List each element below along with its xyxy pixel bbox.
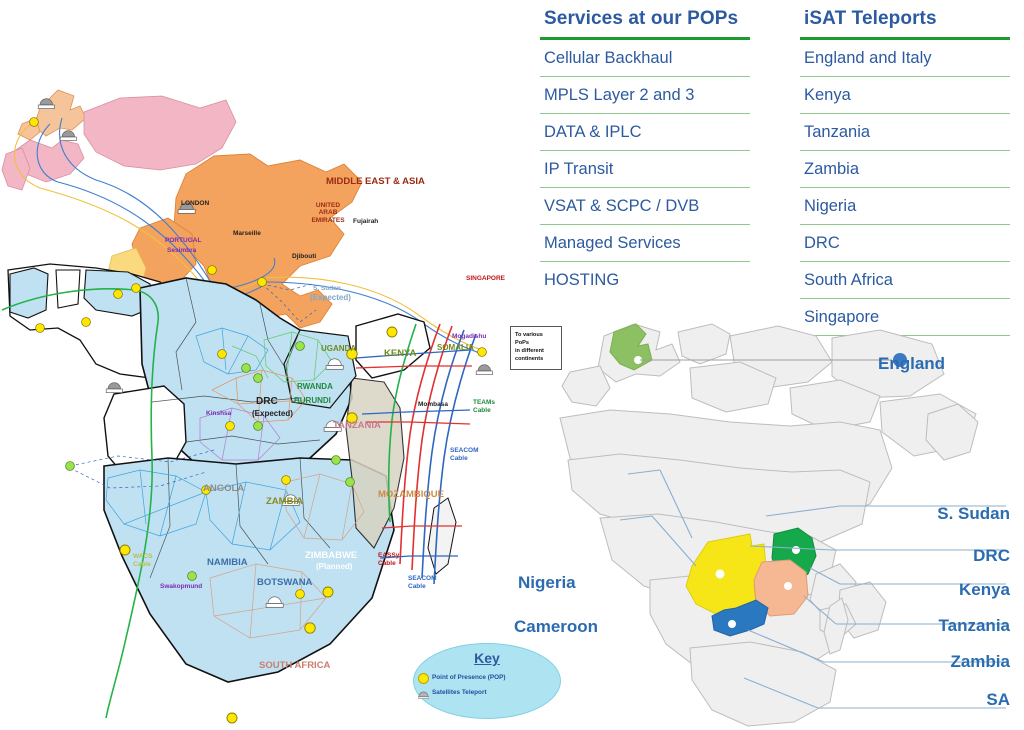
satellite-dish-icon [418, 688, 429, 701]
inset-label-zambia: Zambia [950, 652, 1010, 672]
map-label-rwanda: RWANDA [297, 382, 333, 391]
map-label-london: LONDON [181, 200, 209, 207]
list-item: DRC [800, 225, 1010, 262]
list-item: HOSTING [540, 262, 750, 298]
pop-marker [258, 278, 267, 287]
inset-label-sa: SA [986, 690, 1010, 710]
pop-marker [332, 456, 341, 465]
pop-marker [346, 478, 355, 487]
map-label-marseille: Marseille [233, 230, 261, 237]
pop-marker [114, 290, 123, 299]
key-label-pop: Point of Presence (POP) [432, 674, 506, 681]
list-item: DATA & IPLC [540, 114, 750, 151]
map-label-eassy-cable: EASSy Cable [378, 552, 406, 568]
map-label-drc: DRC [256, 396, 278, 407]
map-label-uganda: UGANDA [321, 344, 356, 353]
inset-label-england: England [878, 354, 945, 374]
pop-marker-capetown [227, 713, 237, 723]
map-label-mozambique: MOZAMBIQUE [378, 489, 444, 500]
map-label-teams-cable: TEAMs Cable [473, 399, 503, 415]
teleports-panel: iSAT Teleports England and Italy Kenya T… [800, 4, 1010, 316]
inset-label-kenya: Kenya [959, 580, 1010, 600]
teleport-pop-marker [66, 462, 75, 471]
map-label-s-sudan-expected: (Expected) [310, 293, 351, 302]
map-label-sesimbra: Sesimbra [167, 247, 196, 254]
list-item: England and Italy [800, 40, 1010, 77]
pop-marker-swakopmund [120, 545, 130, 555]
map-label-namibia: NAMIBIA [207, 557, 248, 568]
key-row-pop: Point of Presence (POP) [432, 674, 506, 681]
inset-label-nigeria: Nigeria [518, 573, 576, 593]
map-label-south-africa-1: SOUTH AFRICA [259, 660, 330, 671]
pop-marker [30, 118, 39, 127]
inset-pop-zambia [728, 620, 736, 628]
pop-marker [242, 364, 251, 373]
inset-label-cameroon: Cameroon [514, 617, 598, 637]
list-item: MPLS Layer 2 and 3 [540, 77, 750, 114]
map-label-kinshasa: Kinshsa [206, 410, 231, 417]
list-item: South Africa [800, 262, 1010, 299]
map-label-zambia: ZAMBIA [266, 496, 303, 507]
map-label-s-sudan: S. Sudan [313, 285, 341, 292]
list-item: Cellular Backhaul [540, 40, 750, 77]
pop-marker [282, 476, 291, 485]
map-key-legend: Key Point of Presence (POP) Satellites T… [413, 643, 561, 719]
pop-marker [82, 318, 91, 327]
map-label-middle-east-asia: MIDDLE EAST & ASIA [326, 176, 425, 187]
inset-label-drc: DRC [973, 546, 1010, 566]
map-label-botswana: BOTSWANA [257, 577, 312, 588]
map-label-burundi: BURUNDI [294, 396, 331, 405]
key-label-teleport: Satellites Teleport [432, 689, 487, 696]
pop-marker [323, 587, 333, 597]
map-label-drc-expected: (Expected) [252, 409, 293, 418]
pop-marker-mogadishu [387, 327, 397, 337]
inset-label-tanzania: Tanzania [939, 616, 1010, 636]
map-label-singapore: SINGAPORE [466, 275, 505, 282]
pop-marker [254, 374, 263, 383]
inset-pop-drc [716, 570, 725, 579]
teleports-panel-title: iSAT Teleports [800, 4, 1010, 37]
pop-marker [478, 348, 487, 357]
inset-pop-kenya [792, 546, 800, 554]
list-item: IP Transit [540, 151, 750, 188]
list-item: Kenya [800, 77, 1010, 114]
list-item: Tanzania [800, 114, 1010, 151]
map-label-mogadishu: Mogadishu [452, 333, 486, 340]
pop-marker [226, 422, 235, 431]
map-label-wacs-cable: WACS Cable [133, 553, 159, 569]
pop-marker [36, 324, 45, 333]
map-label-portugal: PORTUGAL [165, 237, 201, 244]
map-label-djibouti: Djibouti [292, 253, 316, 260]
pop-marker-durban [305, 623, 315, 633]
key-title: Key [414, 650, 560, 666]
pop-marker [254, 422, 263, 431]
map-label-zimbabwe-planned: (Planned) [316, 562, 352, 571]
yellow-dot-icon [418, 673, 429, 686]
teleports-list: England and Italy Kenya Tanzania Zambia … [800, 40, 1010, 336]
list-item: VSAT & SCPC / DVB [540, 188, 750, 225]
services-list: Cellular Backhaul MPLS Layer 2 and 3 DAT… [540, 40, 750, 298]
inset-label-s-sudan: S. Sudan [937, 504, 1010, 524]
map-label-swakopmund: Swakopmund [160, 583, 202, 590]
services-panel: Services at our POPs Cellular Backhaul M… [540, 4, 750, 316]
pop-marker [296, 590, 305, 599]
list-item: Managed Services [540, 225, 750, 262]
pop-marker [218, 350, 227, 359]
map-label-seacom-cable: SEACOM Cable [450, 447, 482, 463]
key-row-teleport: Satellites Teleport [432, 689, 487, 696]
pop-marker [188, 572, 197, 581]
map-label-mombasa: Mombasa [418, 401, 448, 408]
map-label-somalia: SOMALIA [437, 343, 474, 352]
info-panels: Services at our POPs Cellular Backhaul M… [540, 4, 1024, 316]
list-item: Zambia [800, 151, 1010, 188]
map-label-tanzania: TANZANIA [333, 420, 381, 431]
map-label-seacom-cable-2: SEACOM Cable [408, 575, 440, 591]
pop-marker [296, 342, 305, 351]
map-label-zimbabwe: ZIMBABWE [305, 550, 357, 561]
inset-pop-tanzania [784, 582, 792, 590]
services-panel-title: Services at our POPs [540, 4, 750, 37]
pop-marker [208, 266, 217, 275]
map-label-uae: UNITED ARAB EMIRATES [308, 202, 348, 224]
map-label-kenya: KENYA [384, 348, 416, 359]
pop-marker [132, 284, 141, 293]
list-item: Nigeria [800, 188, 1010, 225]
map-label-fujairah: Fujairah [353, 218, 378, 225]
map-label-angola: ANGOLA [203, 483, 244, 494]
